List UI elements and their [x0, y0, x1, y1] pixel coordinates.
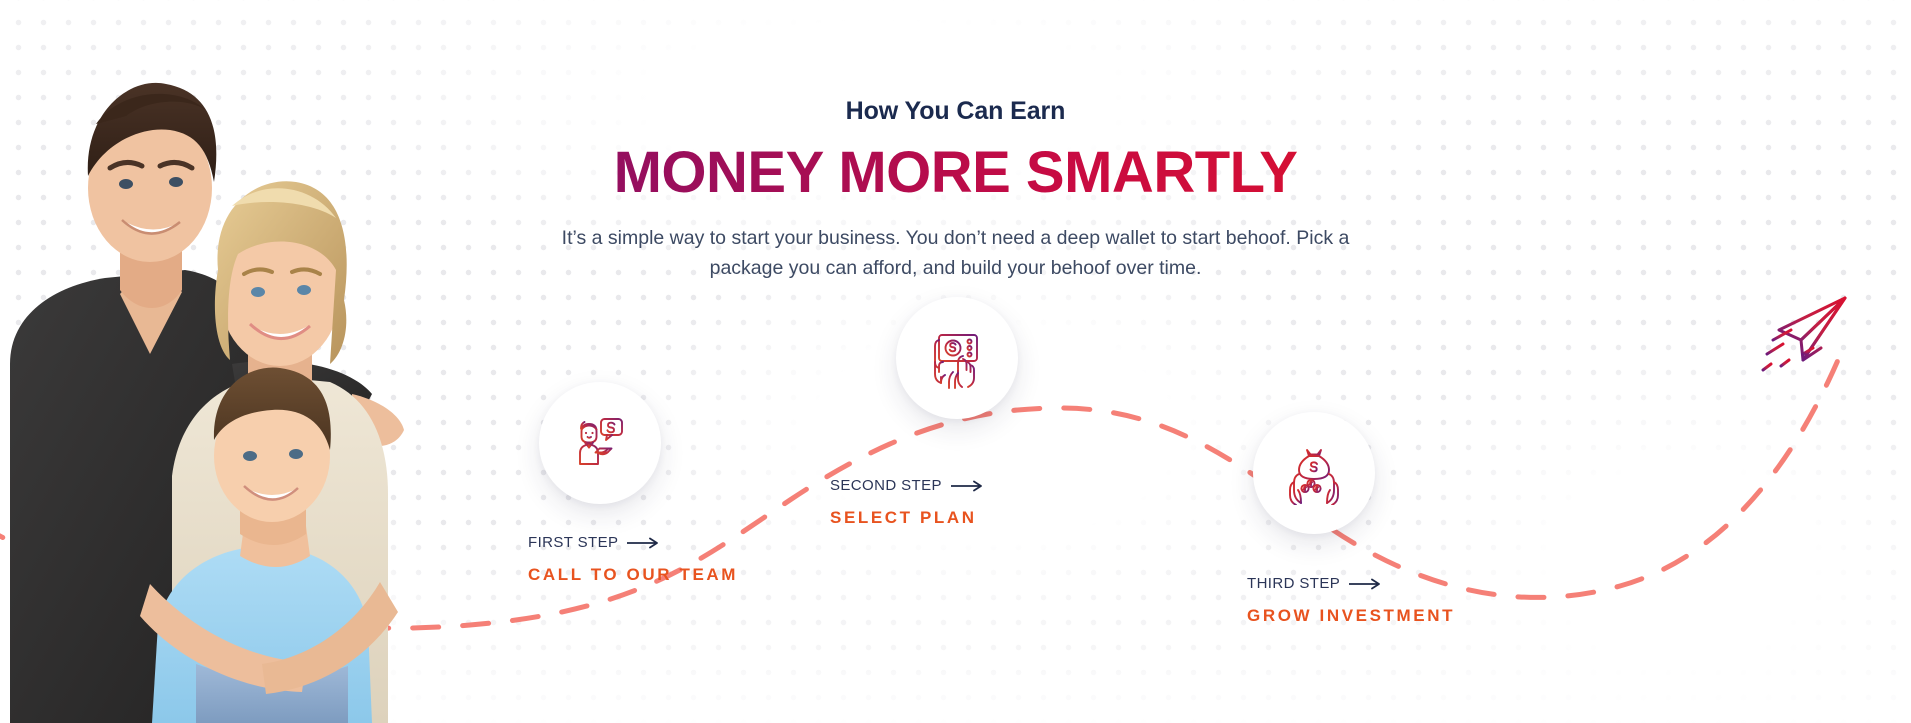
- step-item-second[interactable]: SECOND STEP SELECT PLAN: [896, 297, 1018, 419]
- paper-plane-icon: [1757, 292, 1853, 378]
- section-eyebrow: How You Can Earn: [546, 96, 1366, 126]
- hand-card-dollar-icon: [925, 326, 989, 390]
- arrow-right-icon: [627, 537, 661, 549]
- step-title: SELECT PLAN: [830, 508, 985, 528]
- step-item-first[interactable]: FIRST STEP CALL TO OUR TEAM: [539, 382, 661, 504]
- step-label-row: SECOND STEP: [830, 477, 985, 494]
- step-caption: SECOND STEP SELECT PLAN: [830, 477, 985, 528]
- step-caption: THIRD STEP GROW INVESTMENT: [1247, 575, 1455, 626]
- earn-steps-section: How You Can Earn MONEY MORE SMARTLY It’s…: [0, 0, 1911, 723]
- step-icon-bubble: [539, 382, 661, 504]
- family-photo: [0, 64, 470, 723]
- step-label: THIRD STEP: [1247, 575, 1340, 592]
- step-caption: FIRST STEP CALL TO OUR TEAM: [528, 534, 738, 585]
- arrow-right-icon: [1349, 578, 1383, 590]
- step-title: CALL TO OUR TEAM: [528, 565, 738, 585]
- money-bag-hands-icon: [1282, 441, 1346, 505]
- step-label-row: THIRD STEP: [1247, 575, 1455, 592]
- step-label: FIRST STEP: [528, 534, 618, 551]
- step-icon-bubble: [1253, 412, 1375, 534]
- step-title: GROW INVESTMENT: [1247, 606, 1455, 626]
- section-description: It’s a simple way to start your business…: [546, 224, 1366, 283]
- step-icon-bubble: [896, 297, 1018, 419]
- step-label-row: FIRST STEP: [528, 534, 738, 551]
- step-label: SECOND STEP: [830, 477, 942, 494]
- step-item-third[interactable]: THIRD STEP GROW INVESTMENT: [1253, 412, 1375, 534]
- agent-speech-dollar-icon: [568, 411, 632, 475]
- arrow-right-icon: [951, 480, 985, 492]
- headline-block: How You Can Earn MONEY MORE SMARTLY It’s…: [546, 96, 1366, 283]
- section-title: MONEY MORE SMARTLY: [546, 143, 1366, 204]
